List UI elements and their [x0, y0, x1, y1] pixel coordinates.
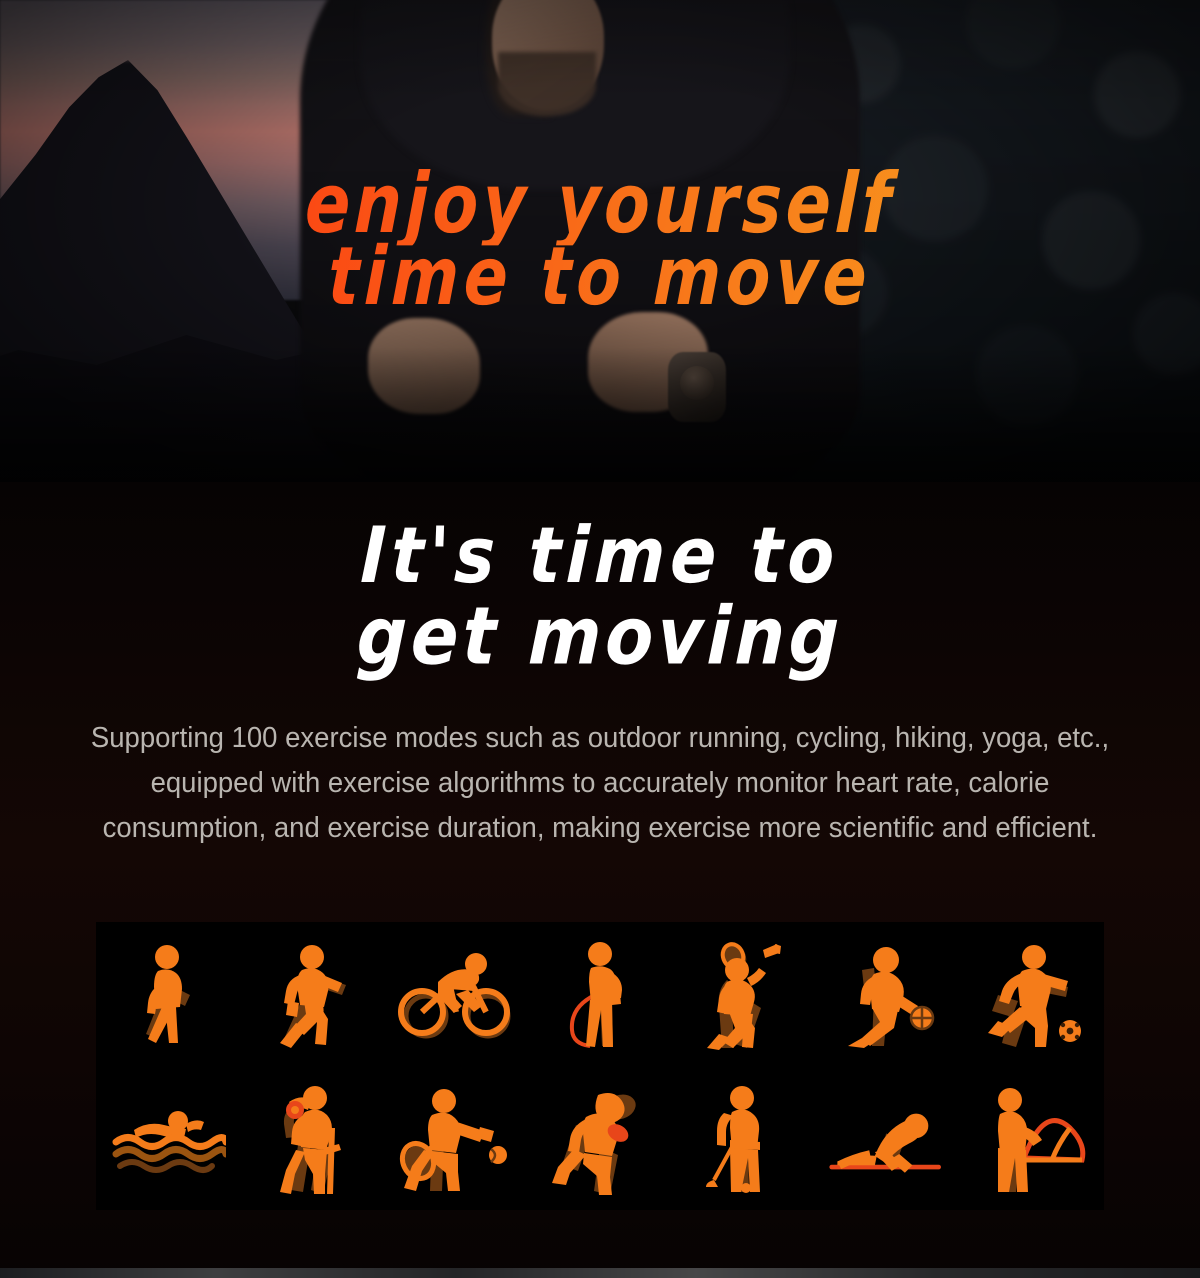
soccer-icon	[972, 934, 1092, 1054]
swimming-icon	[108, 1078, 228, 1198]
exercise-mode-icon-panel	[96, 922, 1104, 1210]
jump-rope-icon	[540, 934, 660, 1054]
tennis-icon	[396, 1078, 516, 1198]
exercise-icon-row-2	[96, 1066, 1104, 1210]
camping-icon	[972, 1078, 1092, 1198]
hero-banner: enjoy yourself time to move	[0, 0, 1200, 482]
hero-tagline-line-2: time to move	[0, 236, 1200, 315]
section-description: Supporting 100 exercise modes such as ou…	[71, 716, 1129, 851]
section-headline: It's time to get moving	[0, 518, 1200, 676]
cycling-icon	[396, 934, 516, 1054]
basketball-icon	[828, 934, 948, 1054]
badminton-icon	[684, 934, 804, 1054]
yoga-icon	[828, 1078, 948, 1198]
hiking-icon	[252, 1078, 372, 1198]
running-icon	[252, 934, 372, 1054]
headline-line-2: get moving	[0, 590, 1200, 681]
page-bottom-strip	[0, 1268, 1200, 1278]
headline-line-1: It's time to	[0, 513, 1200, 602]
walking-icon	[108, 934, 228, 1054]
exercise-icon-row-1	[96, 922, 1104, 1066]
american-football-icon	[540, 1078, 660, 1198]
golf-icon	[684, 1078, 804, 1198]
product-feature-page: enjoy yourself time to move It's time to…	[0, 0, 1200, 1278]
hero-copy: enjoy yourself time to move	[0, 168, 1200, 311]
